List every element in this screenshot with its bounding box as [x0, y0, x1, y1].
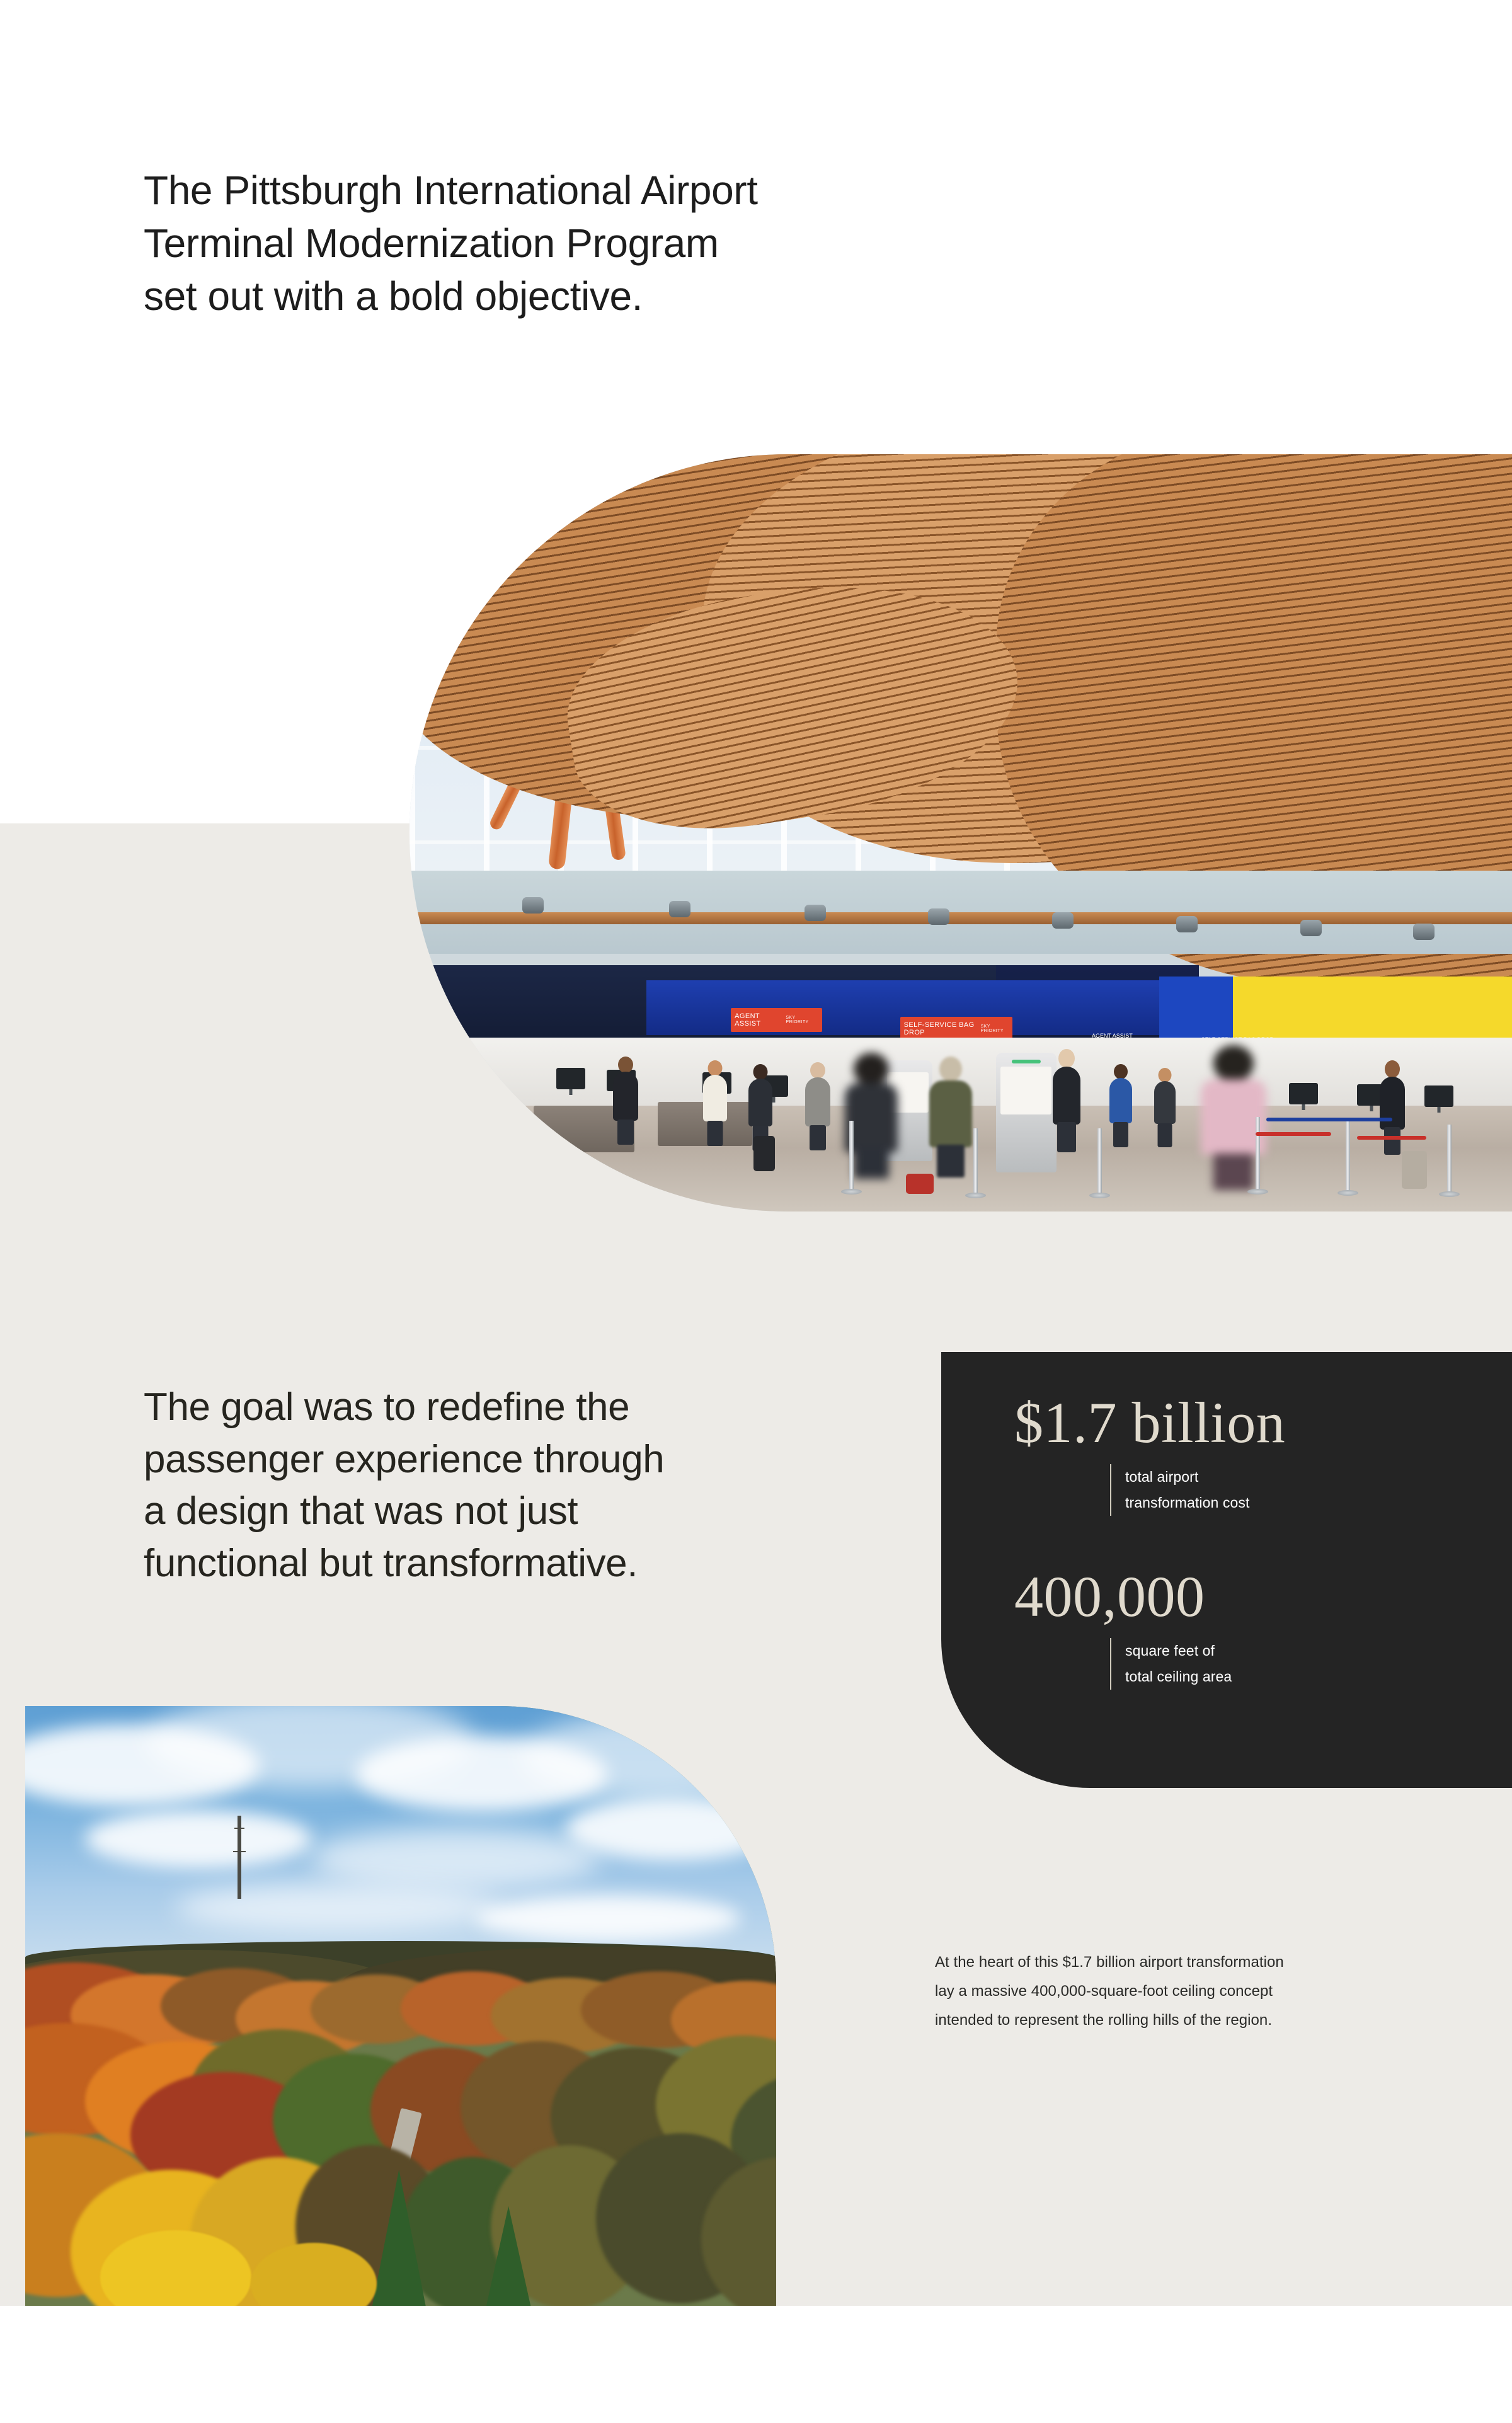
goal-heading-line-3: a design that was not just	[144, 1486, 774, 1537]
goal-heading-line-1: The goal was to redefine the	[144, 1382, 774, 1433]
signage-agent-assist-1: AGENT ASSIST SKY PRIORITY	[731, 1008, 822, 1032]
stat-label-line-2: transformation cost	[1125, 1490, 1285, 1516]
page-footer-background	[0, 2306, 1512, 2423]
signage-band-yellow	[1233, 977, 1512, 1037]
goal-heading-line-4: functional but transformative.	[144, 1538, 774, 1590]
traveller	[483, 1091, 507, 1166]
airline-agent	[612, 1057, 639, 1145]
stat-label-rule: total airport transformation cost	[1110, 1464, 1285, 1516]
body-paragraph: At the heart of this $1.7 billion airpor…	[935, 1948, 1389, 2035]
queue-belt	[1357, 1136, 1426, 1140]
stat-label-line-2: total ceiling area	[1125, 1664, 1232, 1690]
autumn-hillside-photo	[25, 1706, 776, 2316]
intro-heading: The Pittsburgh International Airport Ter…	[144, 164, 887, 323]
signage-label: SELF-SERVICE BAG DROP	[904, 1021, 981, 1036]
traveller	[1052, 1049, 1081, 1152]
signage-sublabel: SKY PRIORITY	[786, 1016, 818, 1024]
body-line-3: intended to represent the rolling hills …	[935, 2006, 1389, 2035]
radio-tower	[238, 1816, 241, 1899]
traveller	[1379, 1060, 1406, 1155]
traveller	[928, 1057, 973, 1177]
body-line-1: At the heart of this $1.7 billion airpor…	[935, 1948, 1389, 1977]
stat-block-ceiling-area: 400,000 square feet of total ceiling are…	[1014, 1567, 1232, 1690]
suitcase	[753, 1136, 775, 1171]
intro-heading-line-1: The Pittsburgh International Airport	[144, 164, 887, 217]
stat-label-line-1: square feet of	[1125, 1638, 1232, 1664]
wood-rail	[409, 912, 1512, 924]
stat-label-rule: square feet of total ceiling area	[1110, 1638, 1232, 1690]
suitcase	[1402, 1151, 1427, 1189]
counter-monitor	[556, 1068, 585, 1089]
stat-value: 400,000	[1014, 1567, 1232, 1625]
stat-block-cost: $1.7 billion total airport transformatio…	[1014, 1394, 1285, 1516]
queue-belt	[1266, 1118, 1392, 1121]
stats-card: $1.7 billion total airport transformatio…	[941, 1352, 1512, 1788]
counter-monitor	[1424, 1085, 1453, 1107]
traveller	[702, 1060, 728, 1146]
traveller	[1154, 1068, 1176, 1147]
goal-heading: The goal was to redefine the passenger e…	[144, 1382, 774, 1590]
traveller	[805, 1062, 831, 1150]
suitcase	[906, 1174, 934, 1194]
traveller	[1109, 1064, 1133, 1147]
signage-sublabel: SKY PRIORITY	[981, 1024, 1009, 1033]
stat-label-line-1: total airport	[1125, 1464, 1285, 1490]
signage-label: AGENT ASSIST	[735, 1012, 786, 1028]
queue-belt	[1256, 1132, 1331, 1136]
page-root: The Pittsburgh International Airport Ter…	[0, 0, 1512, 2423]
body-line-2: lay a massive 400,000-square-foot ceilin…	[935, 1977, 1389, 2006]
stat-value: $1.7 billion	[1014, 1394, 1285, 1452]
goal-heading-line-2: passenger experience through	[144, 1434, 774, 1486]
airport-terminal-photo: AGENT ASSIST SKY PRIORITY SELF-SERVICE B…	[409, 454, 1512, 1211]
airport-photo-canvas: AGENT ASSIST SKY PRIORITY SELF-SERVICE B…	[409, 454, 1512, 1211]
counter-monitor	[1289, 1083, 1318, 1104]
intro-heading-line-2: Terminal Modernization Program	[144, 217, 887, 270]
intro-heading-line-3: set out with a bold objective.	[144, 270, 887, 323]
self-service-kiosk	[996, 1053, 1057, 1172]
